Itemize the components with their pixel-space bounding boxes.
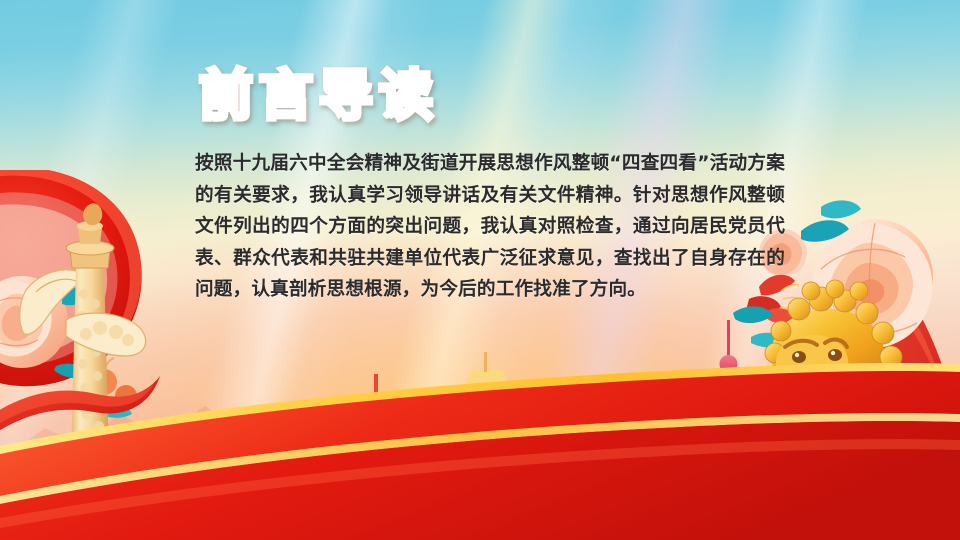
red-wave-band <box>0 350 960 540</box>
page-title-wrap: 前言导读 <box>195 66 785 126</box>
preface-body-text: 按照十九届六中全会精神及街道开展思想作风整顿“四查四看”活动方案的有关要求，我认… <box>195 148 785 306</box>
preface-paragraph: 按照十九届六中全会精神及街道开展思想作风整顿“四查四看”活动方案的有关要求，我认… <box>195 148 785 306</box>
slide-root: 前言导读 按照十九届六中全会精神及街道开展思想作风整顿“四查四看”活动方案的有关… <box>0 0 960 540</box>
page-title: 前言导读 <box>199 66 785 126</box>
content-block: 前言导读 按照十九届六中全会精神及街道开展思想作风整顿“四查四看”活动方案的有关… <box>195 66 785 306</box>
